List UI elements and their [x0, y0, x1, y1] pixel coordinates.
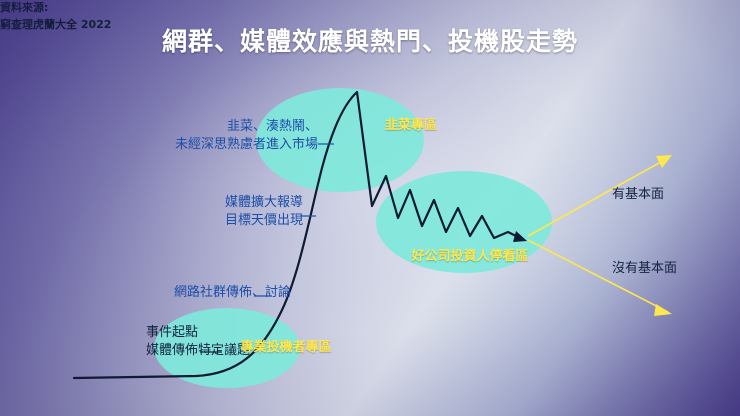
bubble-label-middle: 好公司投資人停看區: [395, 248, 545, 266]
diagram-artwork: [0, 0, 740, 416]
bubble-label-top: 韭菜專區: [368, 117, 454, 135]
annotation-media-amplify: 媒體擴大報導 目標天價出現: [225, 194, 303, 229]
bubble-label-bottom: 專業投機者專區: [226, 339, 346, 357]
branch-arrow-down-head: [654, 304, 672, 316]
branch-arrow-up-head: [656, 155, 672, 168]
branch-label-no-fundamentals: 沒有基本面: [612, 260, 677, 278]
annotation-social-spread: 網路社群傳佈、討論: [174, 284, 291, 302]
branch-label-fundamentals: 有基本面: [612, 186, 664, 204]
page-title: 網群、媒體效應與熱門、投機股走勢: [0, 22, 740, 58]
annotation-retail-entry: 韭菜、湊熱鬧、 未經深思熟慮者進入市場: [175, 118, 318, 153]
slide-canvas: 網群、媒體效應與熱門、投機股走勢 韭菜、湊熱鬧、 未經深思熟慮者進入市場 媒體擴…: [0, 0, 740, 416]
